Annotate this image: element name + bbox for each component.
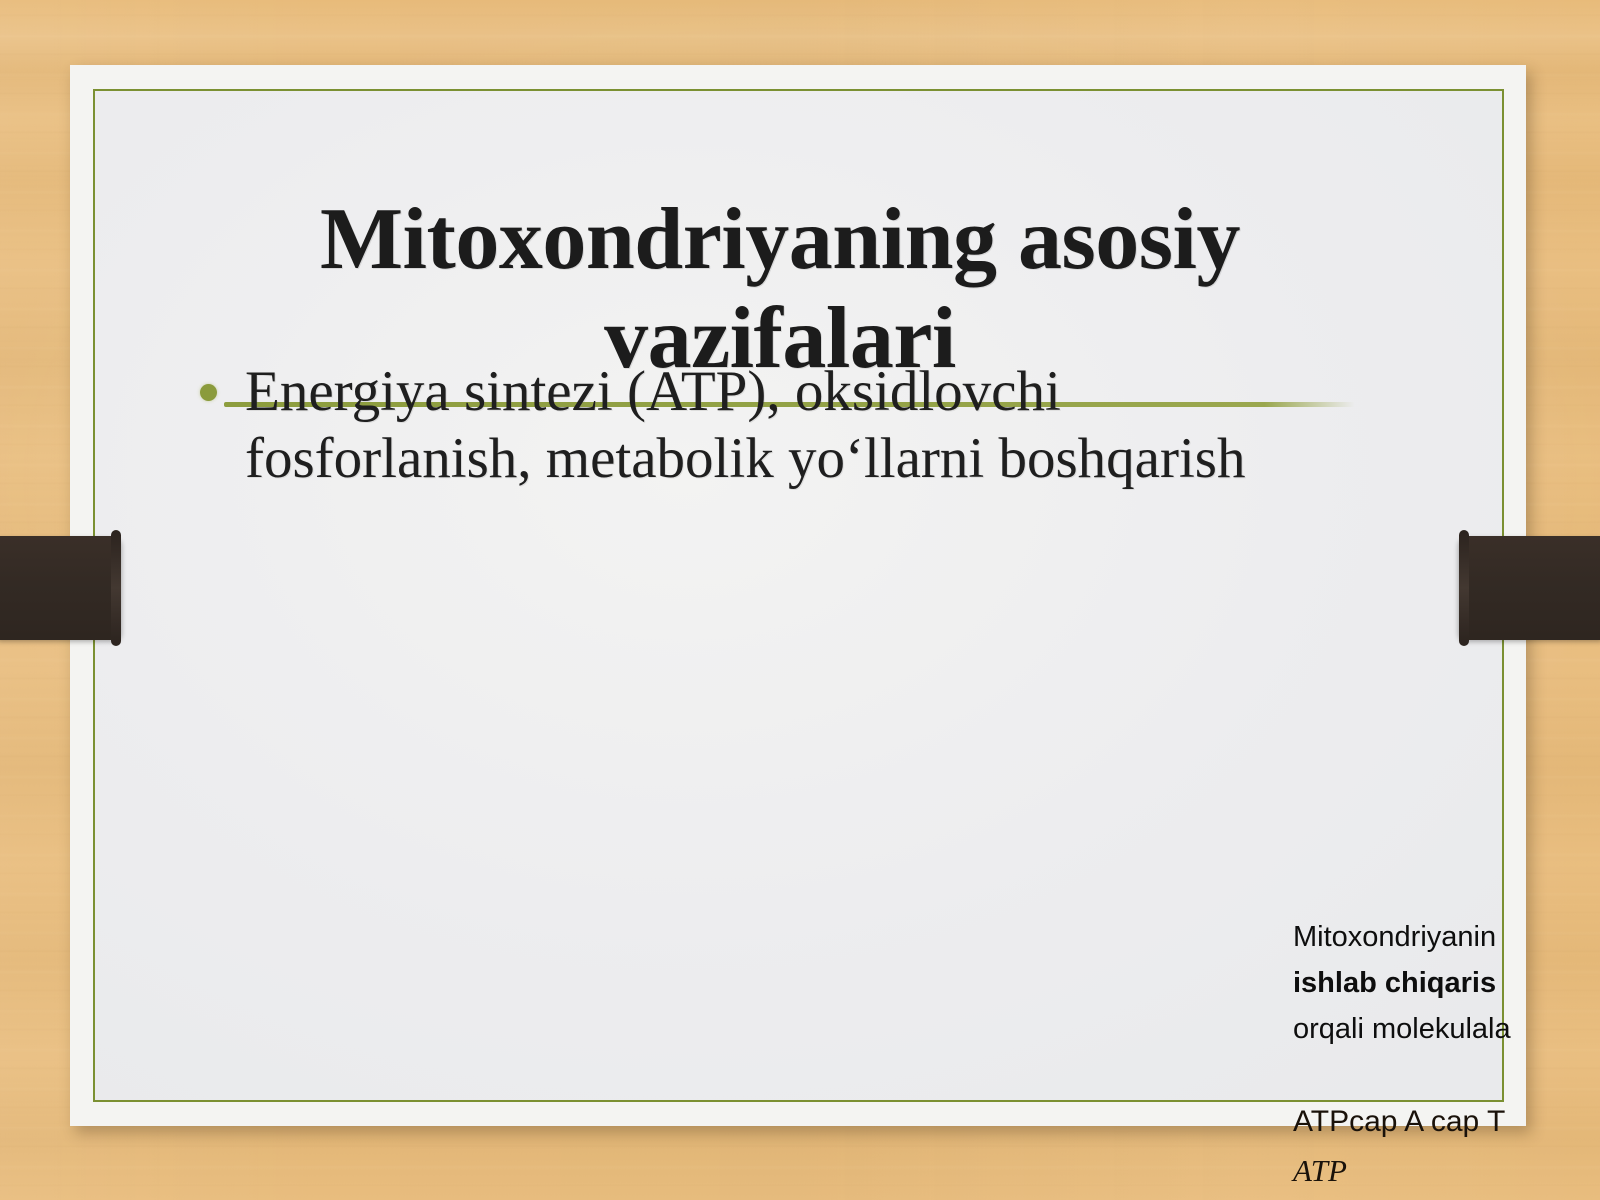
bullet-dot-icon (200, 384, 217, 401)
overflow-footer-line-2: ATP (1293, 1146, 1600, 1196)
side-tab-right (1460, 536, 1600, 640)
bullet-text: Energiya sintezi (ATP), oksidlovchi fosf… (245, 358, 1350, 493)
overflow-footer-block: ATPcap A cap T ATP (1293, 1098, 1600, 1196)
overflow-note-line-3: orqali molekulala (1293, 1007, 1600, 1053)
slide-body: Energiya sintezi (ATP), oksidlovchi fosf… (200, 358, 1350, 493)
overflow-footer-line-1: ATPcap A cap T (1293, 1098, 1600, 1146)
side-tab-left (0, 536, 120, 640)
list-item: Energiya sintezi (ATP), oksidlovchi fosf… (200, 358, 1350, 493)
overflow-note-block: Mitoxondriyanin ishlab chiqaris orqali m… (1293, 915, 1600, 1052)
overflow-note-line-1: Mitoxondriyanin (1293, 915, 1600, 961)
overflow-note-line-2: ishlab chiqaris (1293, 961, 1600, 1007)
